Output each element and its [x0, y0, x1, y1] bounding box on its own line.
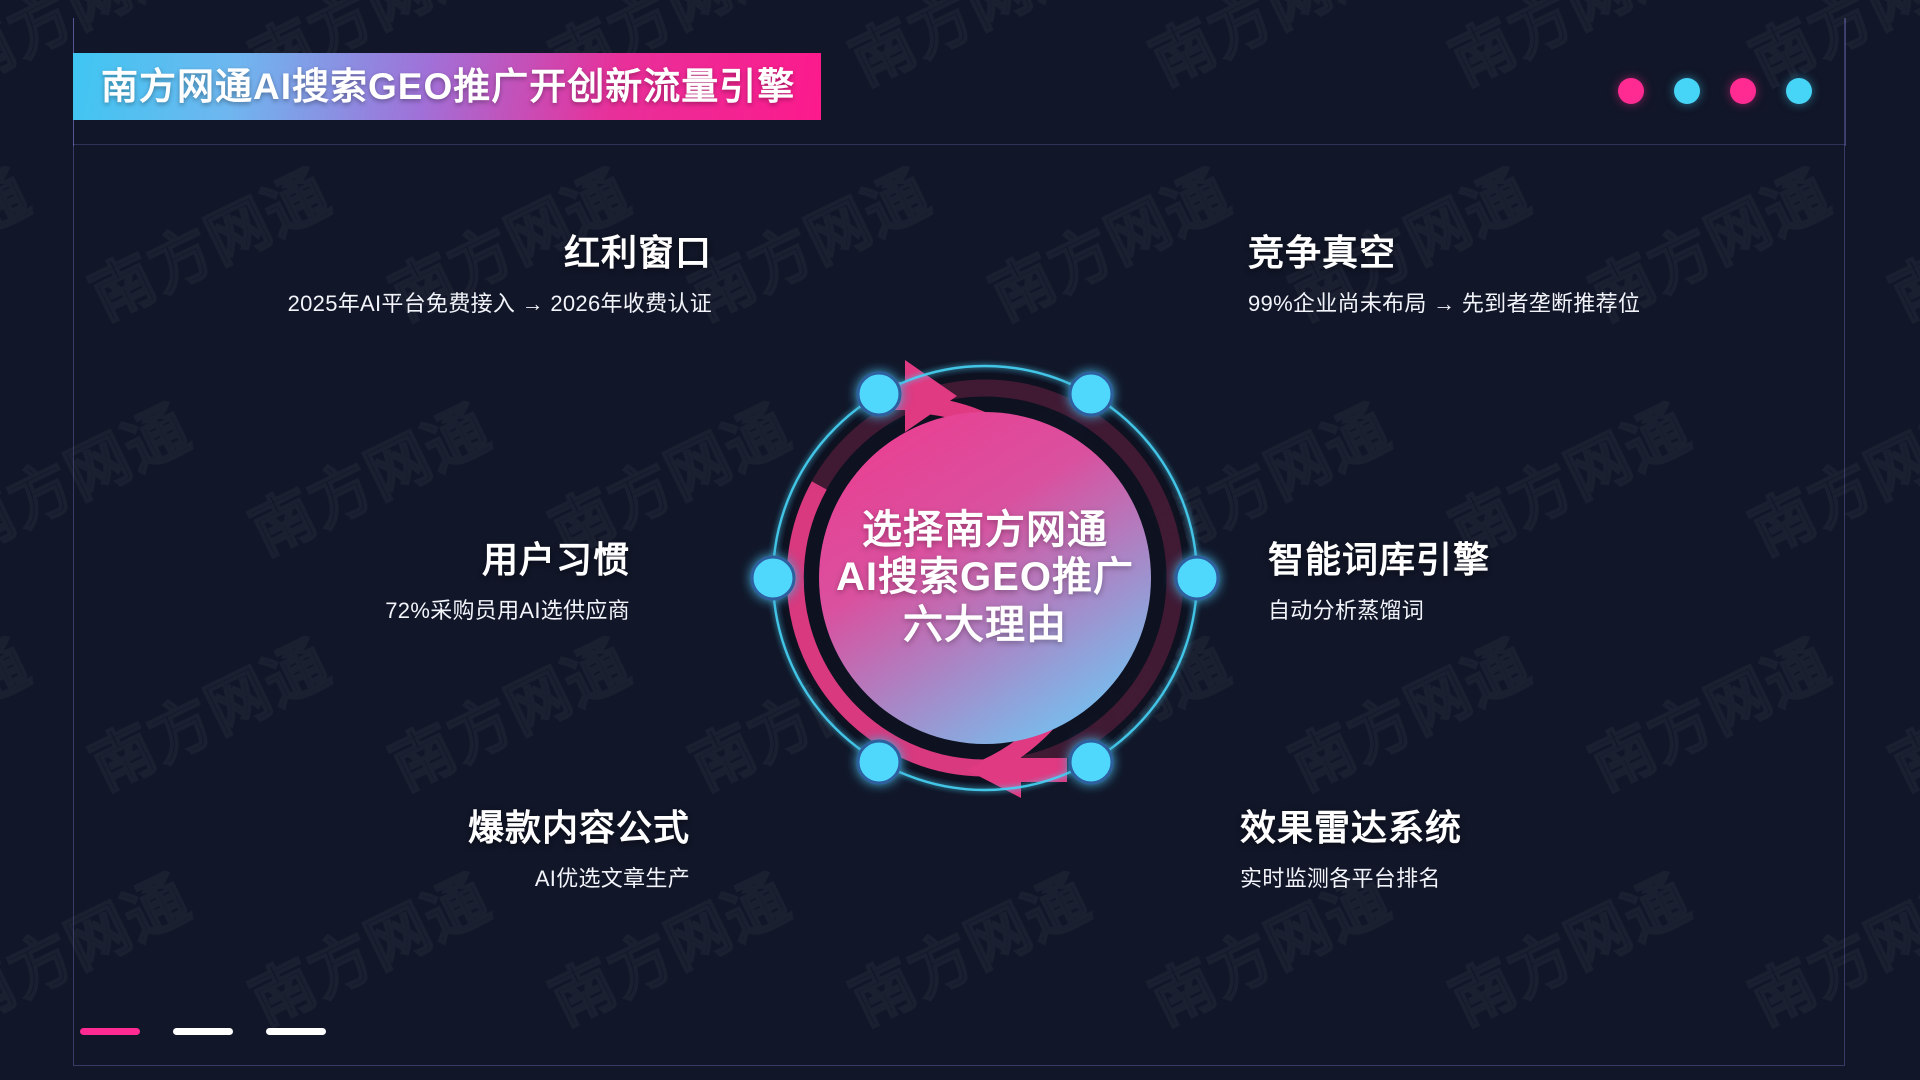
- feature-title: 用户习惯: [190, 537, 630, 582]
- watermark-text: 南方网通: [673, 143, 943, 336]
- diagram-svg: [745, 338, 1225, 818]
- feature-subtitle: 99%企业尚未布局 → 先到者垄断推荐位: [1248, 287, 1808, 320]
- header-dot-1-icon: [1618, 78, 1644, 104]
- watermark-text: 南方网通: [1133, 0, 1403, 102]
- slide-title-bar: 南方网通AI搜索GEO推广开创新流量引擎: [73, 53, 821, 120]
- pagination-indicators[interactable]: [80, 1028, 326, 1035]
- watermark-text: 南方网通: [1873, 143, 1920, 336]
- feature-xiaoguo-leida-xitong: 效果雷达系统 实时监测各平台排名: [1240, 805, 1740, 895]
- watermark-text: 南方网通: [833, 848, 1103, 1041]
- header-dot-4-icon: [1786, 78, 1812, 104]
- watermark-text: 南方网通: [0, 143, 43, 336]
- frame-top-right-rule: [1845, 18, 1846, 146]
- feature-title: 竞争真空: [1248, 230, 1808, 275]
- watermark-text: 南方网通: [1873, 613, 1920, 806]
- slide-canvas: 南方网通南方网通南方网通南方网通南方网通南方网通南方网通南方网通南方网通南方网通…: [0, 0, 1920, 1080]
- header-dot-2-icon: [1674, 78, 1700, 104]
- watermark-text: 南方网通: [973, 143, 1243, 336]
- watermark-text: 南方网通: [0, 613, 43, 806]
- header-dot-group: [1618, 78, 1812, 104]
- feature-yonghu-xiguan: 用户习惯 72%采购员用AI选供应商: [190, 537, 630, 627]
- feature-title: 效果雷达系统: [1240, 805, 1740, 850]
- feature-subtitle: 72%采购员用AI选供应商: [190, 594, 630, 627]
- watermark-text: 南方网通: [0, 848, 203, 1041]
- header-dot-3-icon: [1730, 78, 1756, 104]
- feature-title: 红利窗口: [152, 230, 712, 275]
- orbit-node-bottom-right[interactable]: [1070, 741, 1112, 783]
- feature-subtitle: 2025年AI平台免费接入 → 2026年收费认证: [152, 287, 712, 320]
- watermark-text: 南方网通: [1273, 613, 1543, 806]
- feature-title: 爆款内容公式: [190, 805, 690, 850]
- core-circle: [819, 412, 1151, 744]
- feature-zhineng-ciku-yinqing: 智能词库引擎 自动分析蒸馏词: [1268, 537, 1708, 627]
- watermark-text: 南方网通: [1573, 613, 1843, 806]
- feature-title: 智能词库引擎: [1268, 537, 1708, 582]
- feature-baokuan-neirong-gongshi: 爆款内容公式 AI优选文章生产: [190, 805, 690, 895]
- watermark-text: 南方网通: [73, 613, 343, 806]
- frame-horizontal-rule: [73, 144, 1845, 145]
- feature-subtitle: 自动分析蒸馏词: [1268, 594, 1708, 627]
- orbit-node-bottom-left[interactable]: [858, 741, 900, 783]
- watermark-text: 南方网通: [0, 378, 203, 571]
- watermark-text: 南方网通: [373, 613, 643, 806]
- page-indicator-3[interactable]: [266, 1028, 326, 1035]
- page-indicator-2[interactable]: [173, 1028, 233, 1035]
- page-title: 南方网通AI搜索GEO推广开创新流量引擎: [101, 68, 795, 105]
- circular-diagram: 选择南方网通 AI搜索GEO推广 六大理由: [745, 338, 1225, 818]
- watermark-text: 南方网通: [833, 0, 1103, 102]
- orbit-node-top-right[interactable]: [1070, 373, 1112, 415]
- orbit-node-top-left[interactable]: [858, 373, 900, 415]
- watermark-text: 南方网通: [1733, 378, 1920, 571]
- feature-jingzheng-zhenkong: 竞争真空 99%企业尚未布局 → 先到者垄断推荐位: [1248, 230, 1808, 320]
- feature-subtitle: AI优选文章生产: [190, 862, 690, 895]
- page-indicator-1[interactable]: [80, 1028, 140, 1035]
- orbit-node-left[interactable]: [752, 557, 794, 599]
- feature-subtitle: 实时监测各平台排名: [1240, 862, 1740, 895]
- feature-hongli-chuangkou: 红利窗口 2025年AI平台免费接入 → 2026年收费认证: [152, 230, 712, 320]
- watermark-text: 南方网通: [1733, 848, 1920, 1041]
- orbit-node-right[interactable]: [1176, 557, 1218, 599]
